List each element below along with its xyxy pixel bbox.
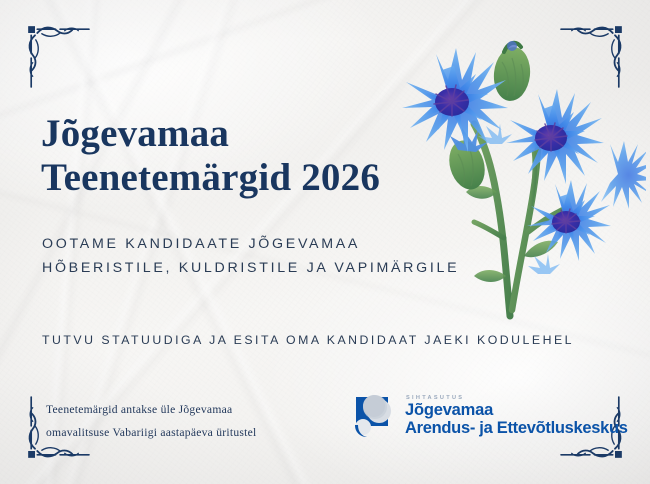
poster-subtitle: OOTAME KANDIDAATE JÕGEVAMAA HÕBERISTILE,…	[42, 232, 542, 281]
poster-content: Jõgevamaa Teenetemärgid 2026 OOTAME KAND…	[0, 0, 650, 484]
jaek-logo-text: SIHTASUTUS Jõgevamaa Arendus- ja Ettevõt…	[405, 395, 628, 437]
jaek-logo-line-1: Jõgevamaa	[405, 402, 628, 419]
jaek-logo-mark-icon	[350, 392, 398, 440]
poster-canvas: Jõgevamaa Teenetemärgid 2026 OOTAME KAND…	[0, 0, 650, 484]
call-to-action-text: TUTVU STATUUDIGA JA ESITA OMA KANDIDAAT …	[42, 333, 622, 347]
jaek-logo-line-2: Arendus- ja Ettevõtluskeskus	[405, 419, 628, 437]
page-title: Jõgevamaa Teenetemärgid 2026	[41, 112, 441, 199]
jaek-logo[interactable]: SIHTASUTUS Jõgevamaa Arendus- ja Ettevõt…	[350, 392, 628, 440]
footnote-text: Teenetemärgid antakse üle Jõgevamaa omav…	[46, 398, 316, 444]
